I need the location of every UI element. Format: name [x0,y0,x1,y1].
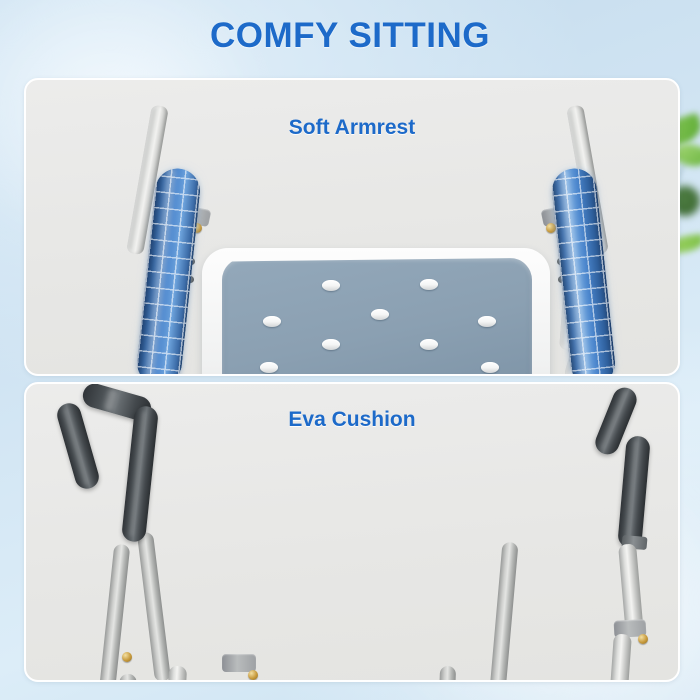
drain-hole [371,375,389,376]
page-title: COMFY SITTING [0,16,700,56]
armrest-tube-left-vertical [54,400,101,491]
panel-label-eva-cushion: Eva Cushion [288,408,415,432]
drain-hole [371,309,389,320]
drain-hole [478,316,496,327]
product-infographic: COMFY SITTING [0,0,700,700]
frame-leg-rear-right-lower [436,666,456,682]
frame-leg-rear-left-2 [137,532,171,682]
armrest-tube-right-down [617,435,651,549]
armrest-tube-left-down [121,405,159,543]
frame-leg-front-right-lower [606,634,632,682]
frame-leg-rear-right [489,542,518,682]
adjust-knob-left-top [122,652,132,662]
feature-panel-soft-armrest: Soft Armrest [24,78,680,376]
feature-panel-eva-cushion: Eva Cushion [24,382,680,682]
drain-hole [420,279,438,290]
drain-hole [263,316,281,327]
drain-hole [322,280,340,291]
drain-hole [322,339,340,350]
drain-hole [481,362,499,373]
drain-hole [260,362,278,373]
frame-leg-front-left-upper [119,674,142,682]
panel-label-soft-armrest: Soft Armrest [289,116,415,140]
drain-hole [420,339,438,350]
adjust-knob-center [248,670,258,680]
adjust-knob-right [638,634,648,644]
